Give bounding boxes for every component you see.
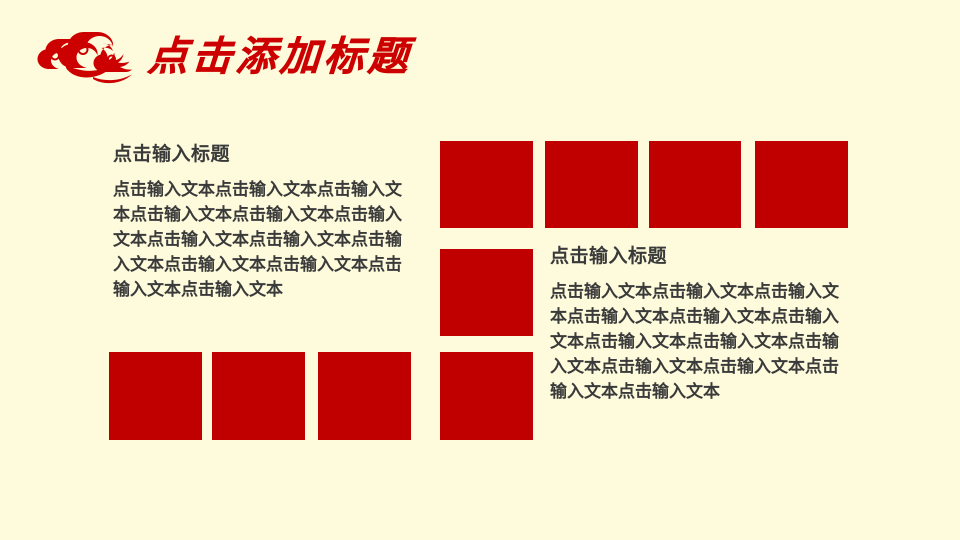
image-placeholder-6[interactable] bbox=[109, 352, 202, 440]
image-placeholder-7[interactable] bbox=[212, 352, 305, 440]
slide-canvas: 点击添加标题 点击输入标题 点击输入文本点击输入文本点击输入文本点击输入文本点击… bbox=[0, 0, 960, 540]
image-placeholder-2[interactable] bbox=[545, 141, 638, 228]
text-block-left: 点击输入标题 点击输入文本点击输入文本点击输入文本点击输入文本点击输入文本点击输… bbox=[113, 142, 413, 303]
image-placeholder-4[interactable] bbox=[755, 141, 848, 228]
slide-header: 点击添加标题 bbox=[0, 0, 960, 110]
image-placeholder-9[interactable] bbox=[440, 352, 533, 440]
image-placeholder-5[interactable] bbox=[440, 249, 533, 336]
image-placeholder-1[interactable] bbox=[440, 141, 533, 228]
block-left-body: 点击输入文本点击输入文本点击输入文本点击输入文本点击输入文本点击输入文本点击输入… bbox=[113, 178, 411, 303]
block-right-heading: 点击输入标题 bbox=[550, 244, 850, 268]
image-placeholder-8[interactable] bbox=[318, 352, 411, 440]
image-placeholder-3[interactable] bbox=[649, 141, 741, 228]
block-right-body: 点击输入文本点击输入文本点击输入文本点击输入文本点击输入文本点击输入文本点击输入… bbox=[550, 280, 848, 405]
page-title: 点击添加标题 bbox=[146, 34, 413, 80]
block-left-heading: 点击输入标题 bbox=[113, 142, 413, 166]
chinese-auspicious-cloud-icon bbox=[33, 28, 141, 90]
text-block-right: 点击输入标题 点击输入文本点击输入文本点击输入文本点击输入文本点击输入文本点击输… bbox=[550, 244, 850, 405]
